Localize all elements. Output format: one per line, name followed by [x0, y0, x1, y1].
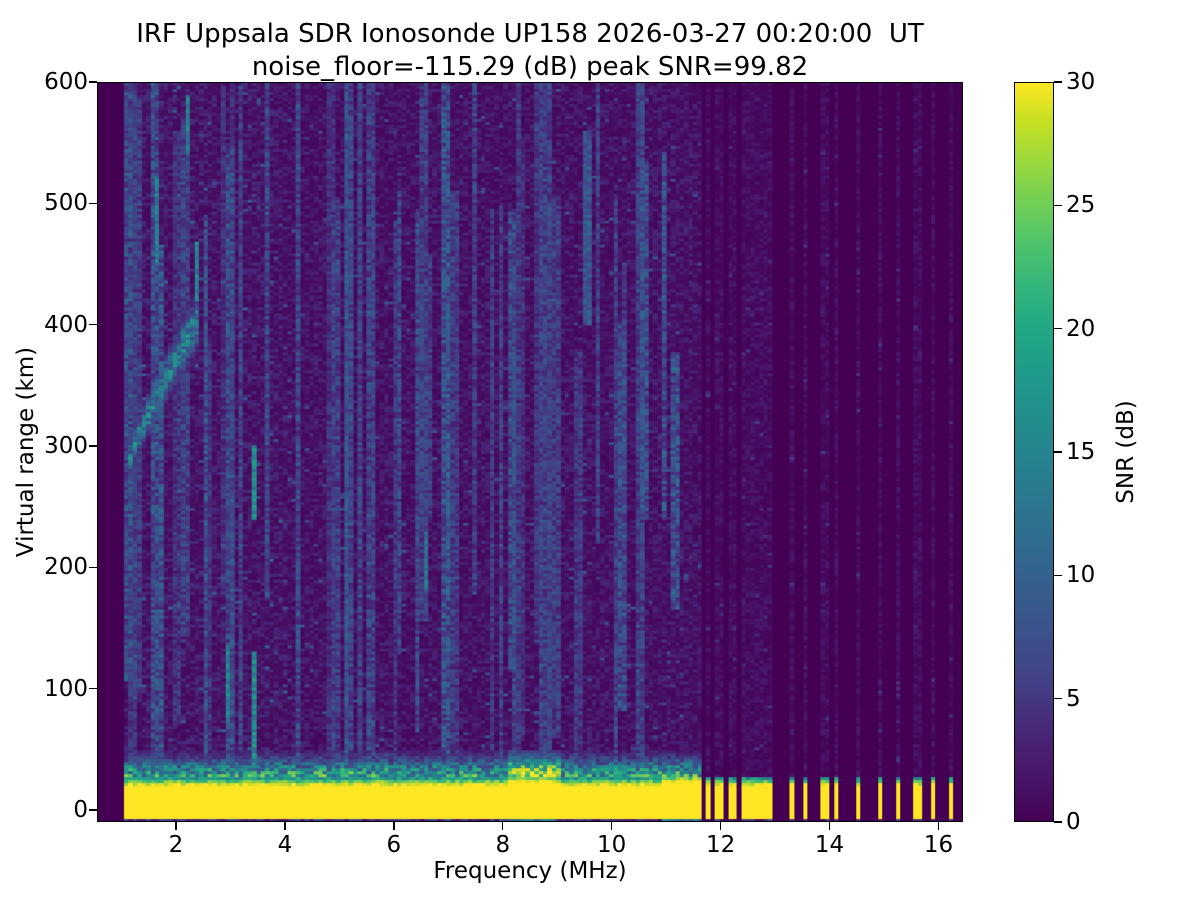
colorbar-tick-mark	[1054, 575, 1062, 576]
colorbar-tick-label: 15	[1066, 439, 1095, 465]
x-tick-label: 10	[597, 832, 626, 858]
y-tick-label: 600	[44, 69, 88, 95]
x-tick-label: 14	[815, 832, 844, 858]
x-tick-label: 8	[495, 832, 510, 858]
colorbar-tick-label: 0	[1066, 809, 1081, 835]
colorbar-tick-label: 25	[1066, 192, 1095, 218]
y-tick-label: 0	[73, 797, 88, 823]
x-tick-mark	[829, 822, 830, 830]
y-tick-mark	[89, 203, 97, 204]
y-tick-mark	[89, 445, 97, 446]
colorbar-tick-mark	[1054, 821, 1062, 822]
title-line-1: IRF Uppsala SDR Ionosonde UP158 2026-03-…	[136, 19, 924, 49]
y-axis-label: Virtual range (km)	[13, 347, 39, 557]
y-tick-mark	[89, 809, 97, 810]
y-tick-mark	[89, 688, 97, 689]
colorbar-tick-label: 20	[1066, 316, 1095, 342]
x-tick-mark	[720, 822, 721, 830]
x-tick-mark	[611, 822, 612, 830]
y-tick-label: 500	[44, 190, 88, 216]
x-tick-label: 4	[278, 832, 293, 858]
x-axis-label: Frequency (MHz)	[433, 858, 626, 884]
x-tick-label: 16	[924, 832, 953, 858]
ionogram-plot-area	[97, 82, 963, 822]
y-tick-mark	[89, 81, 97, 82]
x-tick-mark	[502, 822, 503, 830]
title-line-2: noise_floor=-115.29 (dB) peak SNR=99.82	[0, 51, 1060, 84]
y-tick-mark	[89, 324, 97, 325]
ionogram-figure: IRF Uppsala SDR Ionosonde UP158 2026-03-…	[0, 0, 1200, 900]
y-axis-label-wrap: Virtual range (km)	[30, 0, 31, 900]
colorbar-tick-label: 5	[1066, 686, 1081, 712]
x-tick-mark	[938, 822, 939, 830]
y-tick-label: 200	[44, 554, 88, 580]
colorbar-tick-label: 10	[1066, 562, 1095, 588]
colorbar-tick-mark	[1054, 205, 1062, 206]
x-tick-label: 2	[169, 832, 184, 858]
x-tick-mark	[284, 822, 285, 830]
chart-title: IRF Uppsala SDR Ionosonde UP158 2026-03-…	[0, 18, 1060, 84]
colorbar-tick-label: 30	[1066, 69, 1095, 95]
x-tick-label: 12	[706, 832, 735, 858]
x-tick-mark	[393, 822, 394, 830]
y-tick-mark	[89, 567, 97, 568]
y-tick-label: 100	[44, 676, 88, 702]
y-tick-label: 300	[44, 433, 88, 459]
colorbar	[1014, 82, 1054, 822]
colorbar-tick-mark	[1054, 81, 1062, 82]
colorbar-tick-mark	[1054, 451, 1062, 452]
x-tick-mark	[175, 822, 176, 830]
ionogram-heatmap	[98, 83, 962, 821]
colorbar-tick-mark	[1054, 328, 1062, 329]
x-tick-label: 6	[387, 832, 402, 858]
colorbar-tick-mark	[1054, 698, 1062, 699]
y-tick-label: 400	[44, 312, 88, 338]
colorbar-label: SNR (dB)	[1113, 400, 1139, 503]
